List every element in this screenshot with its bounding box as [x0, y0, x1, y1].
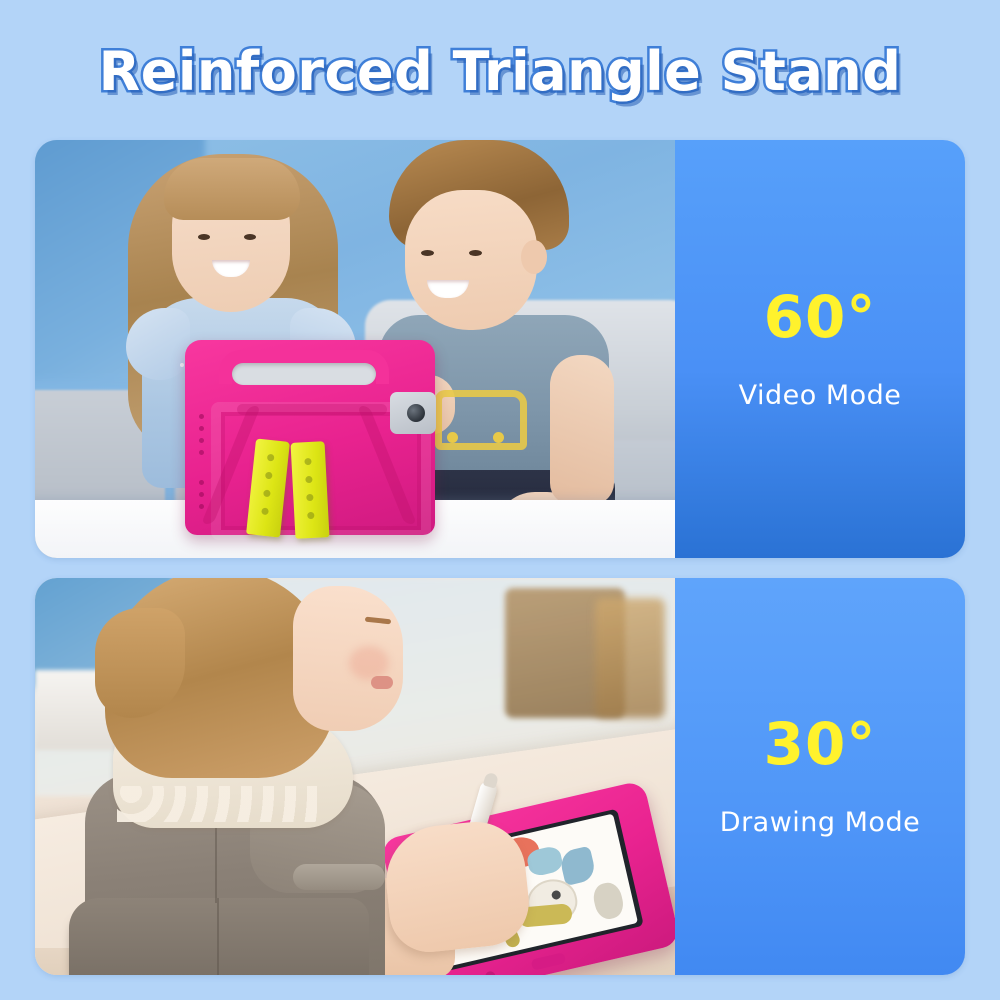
- girl-sleeve-cuff: [293, 864, 385, 890]
- boy-shirt-graphic-detail: [447, 432, 458, 443]
- boy-eye-right: [469, 250, 482, 256]
- girl-eye-left: [198, 234, 210, 240]
- boy-arm-right: [550, 355, 614, 505]
- info-panel-video-mode: 60° Video Mode: [675, 140, 965, 558]
- kickstand-leg-right: [291, 441, 330, 539]
- feature-card-video-mode: 60° Video Mode: [35, 140, 965, 558]
- boy-eye-left: [421, 250, 434, 256]
- girl-cheek: [349, 646, 389, 680]
- wooden-chair-back: [595, 598, 665, 718]
- mode-label: Drawing Mode: [720, 807, 920, 838]
- product-feature-image: Reinforced Triangle Stand: [0, 0, 1000, 1000]
- girl-eye-right: [244, 234, 256, 240]
- girl-lips: [371, 676, 393, 689]
- angle-value: 60°: [764, 288, 877, 346]
- angle-value: 30°: [764, 715, 877, 773]
- mode-label: Video Mode: [739, 380, 902, 411]
- photo-video-mode: [35, 140, 675, 558]
- info-panel-drawing-mode: 30° Drawing Mode: [675, 578, 965, 975]
- page-title: Reinforced Triangle Stand: [99, 40, 902, 103]
- photo-drawing-mode: [35, 578, 675, 975]
- feature-card-drawing-mode: 30° Drawing Mode: [35, 578, 965, 975]
- boy-shirt-graphic-detail: [493, 432, 504, 443]
- boy-face: [405, 190, 537, 330]
- case-handle-opening: [232, 363, 376, 385]
- boy-ear: [521, 240, 547, 274]
- collar-lace-trim: [117, 786, 317, 822]
- girl-fringe: [164, 158, 300, 220]
- child-girl-drawing: [65, 578, 425, 975]
- title-container: Reinforced Triangle Stand: [0, 36, 1000, 106]
- girl-skirt: [69, 898, 369, 975]
